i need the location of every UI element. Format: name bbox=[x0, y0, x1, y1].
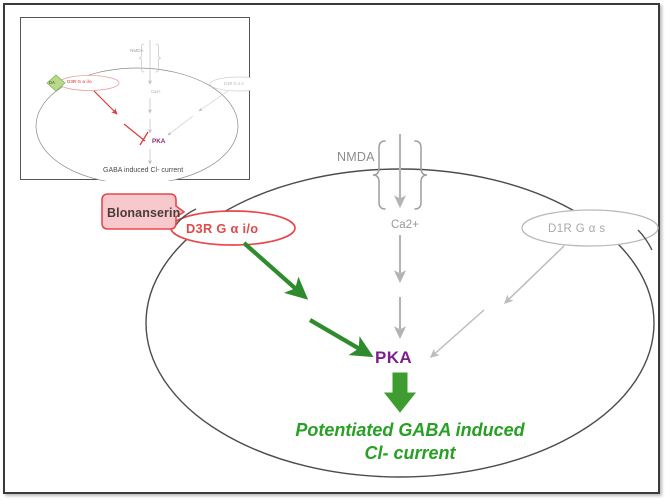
figure-canvas: NMDA Ca2+ PKA D3R G α i/o D1R G α s Blon… bbox=[0, 0, 670, 504]
inset-d1r-label: D1R G α s bbox=[224, 81, 244, 86]
outcome-line-1: Potentiated GABA induced bbox=[295, 420, 524, 440]
inset-dopamine-label: DA bbox=[49, 80, 55, 85]
inset-pka-label: PKA bbox=[152, 138, 165, 145]
inset-calcium-label: Ca2+ bbox=[151, 89, 161, 94]
outcome-label: Potentiated GABA induced Cl- current bbox=[255, 419, 565, 465]
d1r-receptor-label: D1R G α s bbox=[548, 223, 606, 235]
inset-diagram-svg bbox=[21, 18, 251, 181]
inset-nmda-label: NMDA bbox=[130, 48, 144, 53]
blonanserin-label: Blonanserin bbox=[107, 206, 180, 220]
nmda-label: NMDA bbox=[337, 150, 375, 164]
inset-panel: NMDA Ca2+ PKA D3R G α i/o D1R G α s DA G… bbox=[20, 17, 250, 180]
inset-outcome-label: GABA induced Cl- current bbox=[103, 167, 183, 174]
pka-label: PKA bbox=[375, 348, 412, 368]
d3r-receptor-label: D3R G α i/o bbox=[186, 221, 258, 236]
calcium-label: Ca2+ bbox=[391, 219, 419, 231]
inset-d3r-label: D3R G α i/o bbox=[67, 79, 92, 84]
outcome-line-2: Cl- current bbox=[255, 442, 565, 465]
